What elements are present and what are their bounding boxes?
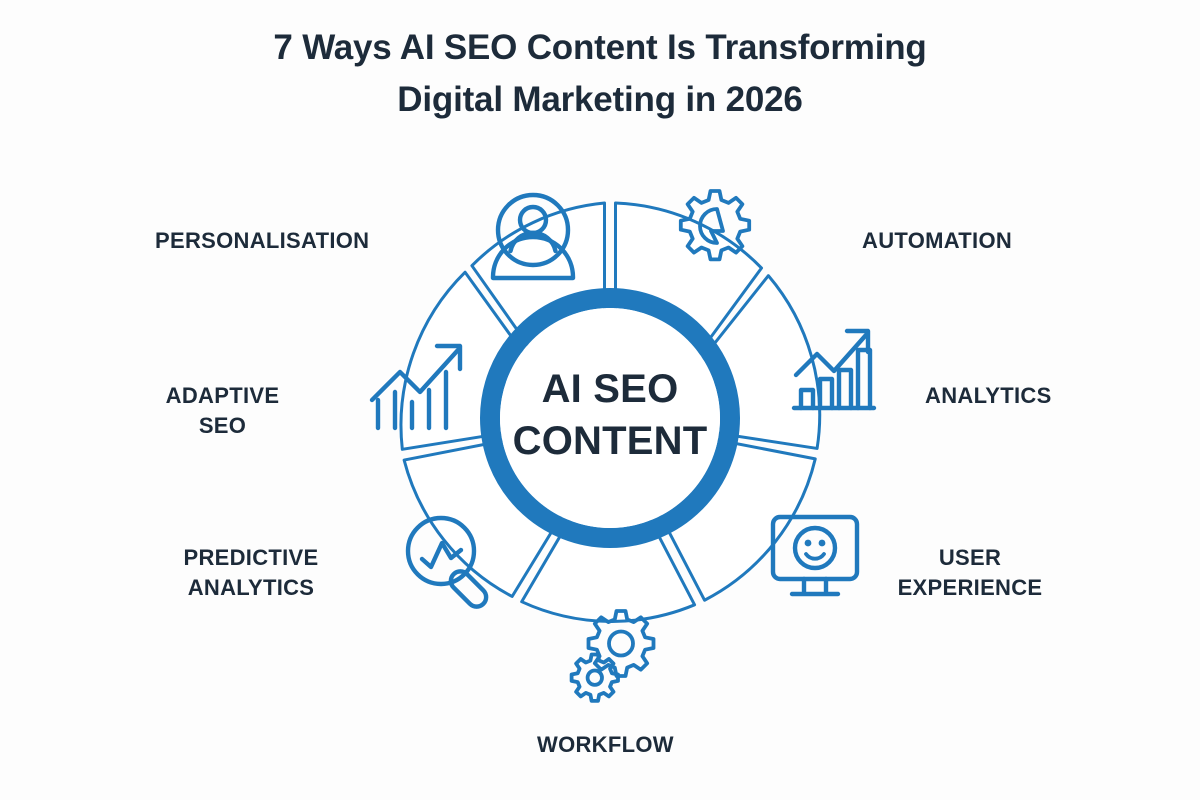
infographic-canvas: 7 Ways AI SEO Content Is Transforming Di…	[0, 0, 1200, 800]
segment-label-automation: AUTOMATION	[862, 226, 1012, 256]
hub-disc	[500, 308, 720, 528]
segment-label-user-experience: USER EXPERIENCE	[888, 543, 1052, 603]
segment-label-workflow: WORKFLOW	[537, 730, 674, 760]
segment-label-personalisation: PERSONALISATION	[155, 226, 369, 256]
segment-label-adaptive-seo: ADAPTIVE SEO	[150, 381, 295, 441]
segment-label-predictive-analytics: PREDICTIVE ANALYTICS	[170, 543, 332, 603]
segment-label-analytics: ANALYTICS	[925, 381, 1052, 411]
two-gears-icon	[572, 611, 654, 701]
